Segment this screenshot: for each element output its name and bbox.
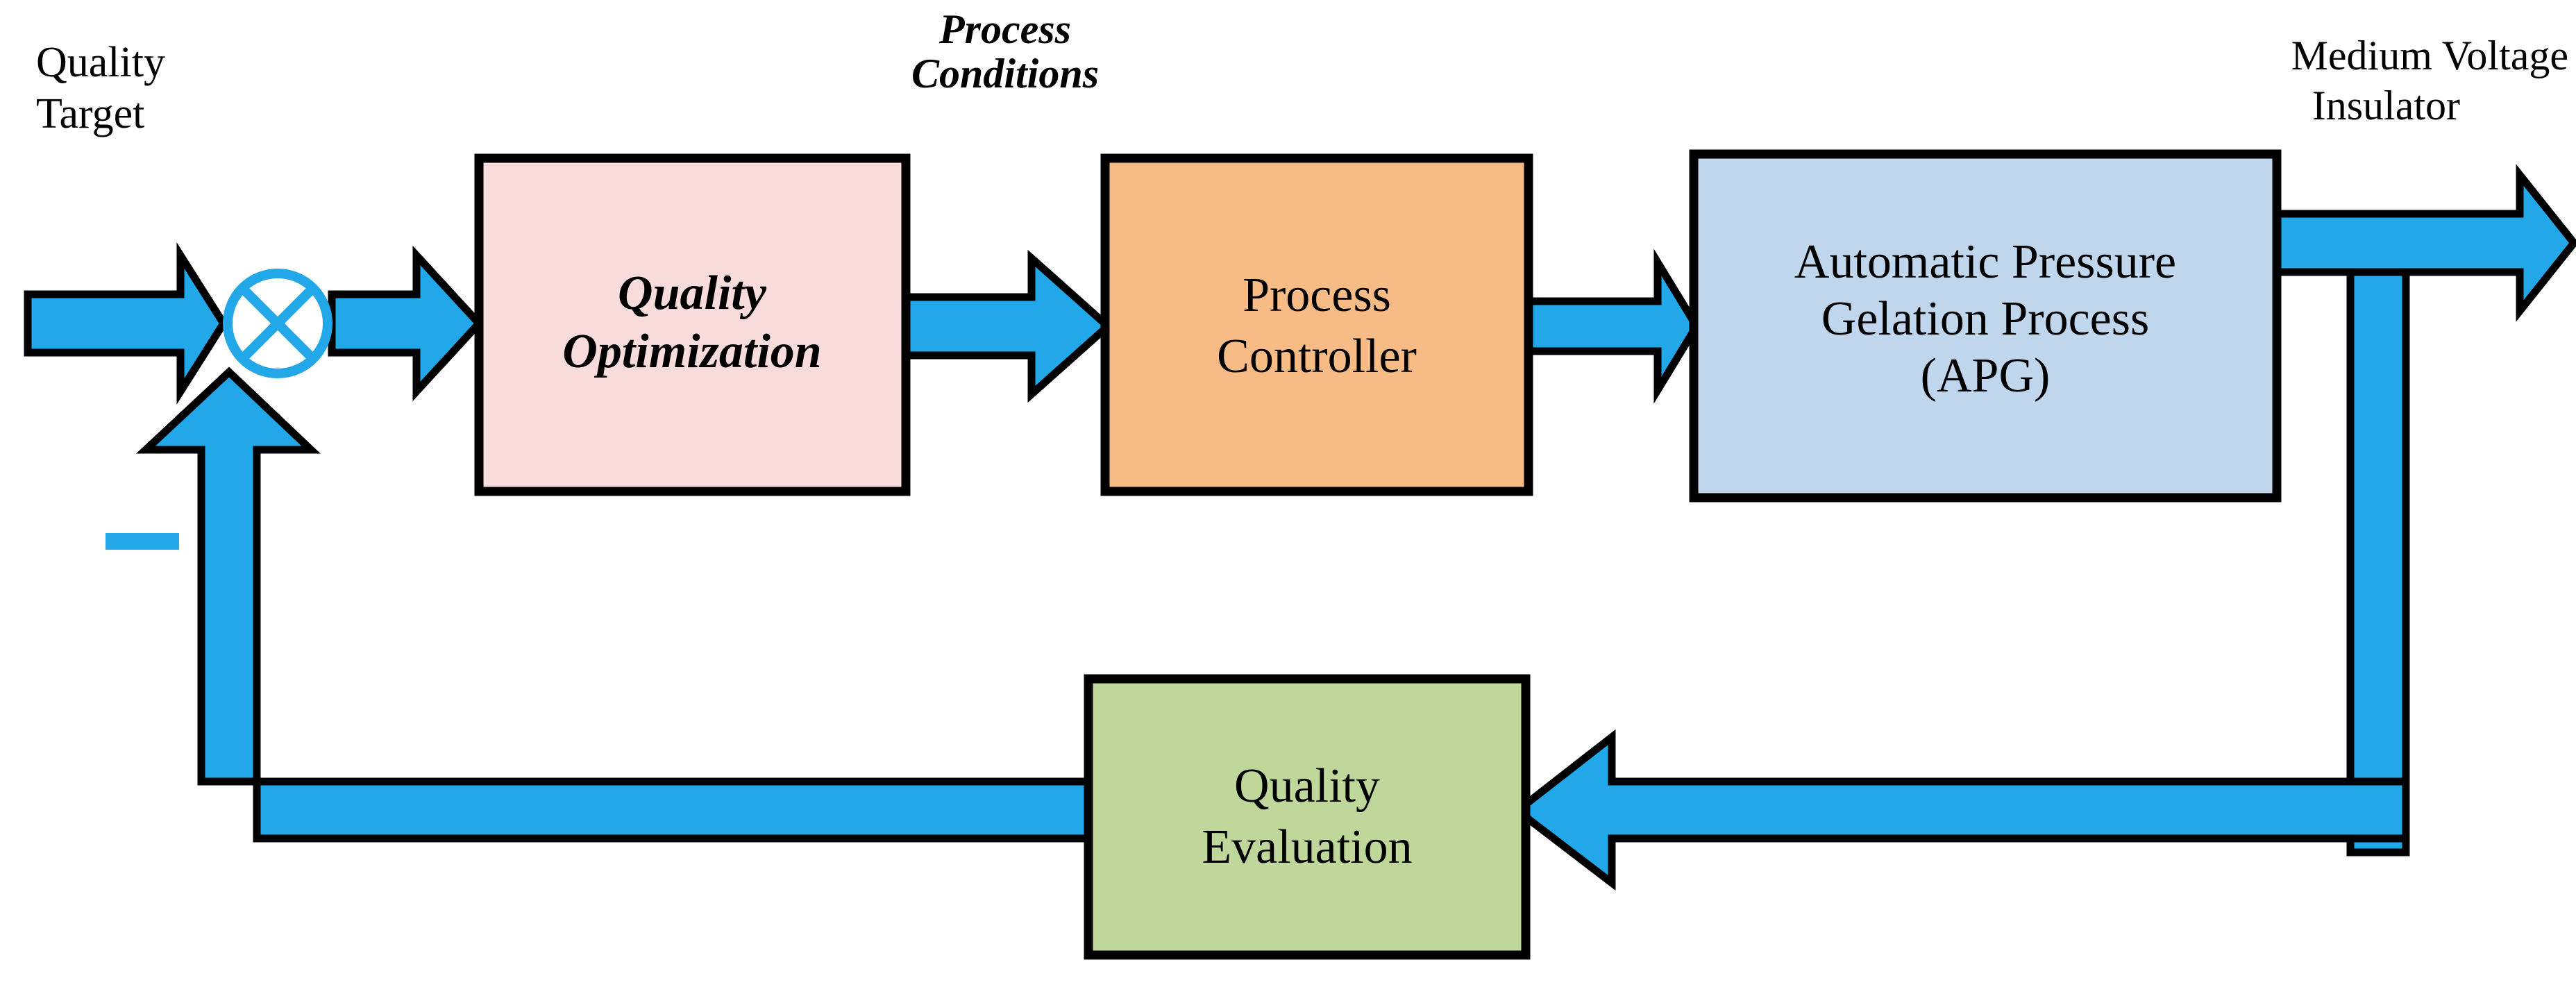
block-quality-evaluation[interactable]: Quality Evaluation xyxy=(1088,679,1526,955)
label-medium-voltage-insulator: Medium Voltage Insulator xyxy=(2291,33,2568,128)
quality-evaluation-label-line2: Evaluation xyxy=(1202,820,1412,874)
apg-label-line3: (APG) xyxy=(1921,349,2051,403)
medium-voltage-insulator-line2: Insulator xyxy=(2312,83,2460,128)
process-conditions-line2: Conditions xyxy=(911,51,1099,96)
process-conditions-line1: Process xyxy=(938,6,1071,52)
label-quality-target: Quality Target xyxy=(36,39,165,137)
quality-optimization-label-line2: Optimization xyxy=(562,325,821,378)
quality-optimization-label-line1: Quality xyxy=(618,267,767,320)
block-diagram-canvas: Quality Optimization Process Controller … xyxy=(0,0,2576,987)
block-process-controller[interactable]: Process Controller xyxy=(1105,158,1529,491)
minus-sign-icon xyxy=(106,533,179,550)
quality-evaluation-box[interactable] xyxy=(1088,679,1526,955)
apg-label-line1: Automatic Pressure xyxy=(1794,235,2176,289)
quality-evaluation-label-line1: Quality xyxy=(1234,759,1380,813)
diagram-svg: Quality Optimization Process Controller … xyxy=(0,0,2576,987)
error-to-quality-optimization-arrow xyxy=(332,255,479,391)
medium-voltage-insulator-line1: Medium Voltage xyxy=(2291,33,2568,78)
quality-target-line2: Target xyxy=(36,90,144,137)
apg-label-line2: Gelation Process xyxy=(1821,292,2149,346)
block-quality-optimization[interactable]: Quality Optimization xyxy=(479,158,906,491)
quality-target-line1: Quality xyxy=(36,39,165,86)
process-controller-label-line1: Process xyxy=(1243,269,1391,322)
external-labels-group: Quality Target Process Conditions Medium… xyxy=(36,6,2568,137)
feedback-return-arrow xyxy=(1517,737,2406,883)
label-process-conditions: Process Conditions xyxy=(911,6,1099,96)
process-controller-box[interactable] xyxy=(1105,158,1529,491)
output-feedback-branch-down xyxy=(2350,272,2406,852)
apg-output-arrow xyxy=(2274,175,2574,311)
process-controller-label-line2: Controller xyxy=(1217,330,1417,383)
block-automatic-pressure-gelation-process[interactable]: Automatic Pressure Gelation Process (APG… xyxy=(1694,154,2277,498)
quality-target-input-arrow xyxy=(28,255,224,391)
quality-optimization-to-process-controller-arrow xyxy=(902,258,1108,394)
process-controller-to-apg-arrow xyxy=(1526,262,1697,390)
